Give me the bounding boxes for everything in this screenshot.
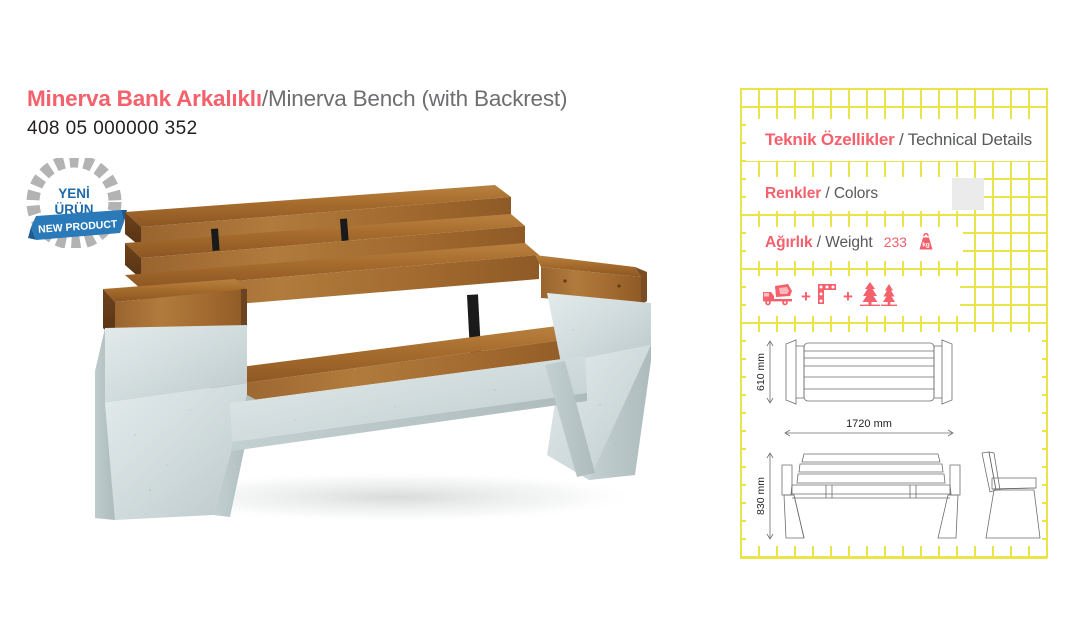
colors-separator: / <box>825 185 829 202</box>
technical-spec-panel: Teknik Özellikler / Technical Details Re… <box>740 88 1047 558</box>
top-view-height-label: 610 mm <box>755 353 767 391</box>
technical-label-en: Technical Details <box>908 130 1032 149</box>
concrete-mixer-truck-icon <box>762 282 796 311</box>
front-view-height-label: 830 mm <box>755 477 767 515</box>
svg-text:kg: kg <box>922 241 930 248</box>
weight-label-tr: Ağırlık <box>765 234 813 251</box>
color-swatch[interactable] <box>952 178 984 210</box>
kg-weight-icon: kg <box>916 232 936 257</box>
technical-label-tr: Teknik Özellikler <box>765 130 895 149</box>
colors-label-tr: Renkler <box>765 185 821 202</box>
product-title-tr: Minerva Bank Arkalıklı <box>27 86 262 111</box>
technical-details-row: Teknik Özellikler / Technical Details <box>746 119 1059 161</box>
technical-separator: / <box>899 130 904 149</box>
front-view-drawing <box>782 454 960 538</box>
weight-label-en: Weight <box>825 234 872 251</box>
plus-sign: + <box>801 288 811 305</box>
side-view-drawing <box>982 452 1040 538</box>
angle-bracket-icon <box>816 282 838 311</box>
pine-trees-icon <box>858 281 900 312</box>
weight-value: 233 <box>884 234 907 250</box>
product-code: 408 05 000000 352 <box>27 118 687 140</box>
title-block: Minerva Bank Arkalıklı/Minerva Bench (wi… <box>27 85 687 140</box>
material-pictogram-row: + + <box>746 276 960 316</box>
dimension-drawings: 610 mm 1720 mm 830 mm <box>746 332 1042 546</box>
top-view-height-dimension <box>767 341 773 403</box>
product-pane: Minerva Bank Arkalıklı/Minerva Bench (wi… <box>0 0 730 622</box>
front-view-height-dimension <box>767 453 773 539</box>
plus-sign-2: + <box>843 288 853 305</box>
colors-label-en: Colors <box>834 185 878 202</box>
top-view-width-dimension <box>785 430 953 436</box>
top-view-drawing <box>786 340 952 404</box>
product-title-en: Minerva Bench (with Backrest) <box>268 86 567 111</box>
weight-separator: / <box>817 234 821 251</box>
badge-line-1: YENİ <box>58 186 90 201</box>
weight-row: Ağırlık / Weight 233 kg <box>746 227 963 261</box>
product-image <box>95 185 675 530</box>
colors-row: Renkler / Colors <box>746 177 963 211</box>
page-title: Minerva Bank Arkalıklı/Minerva Bench (wi… <box>27 85 687 113</box>
top-view-width-label: 1720 mm <box>846 418 892 430</box>
